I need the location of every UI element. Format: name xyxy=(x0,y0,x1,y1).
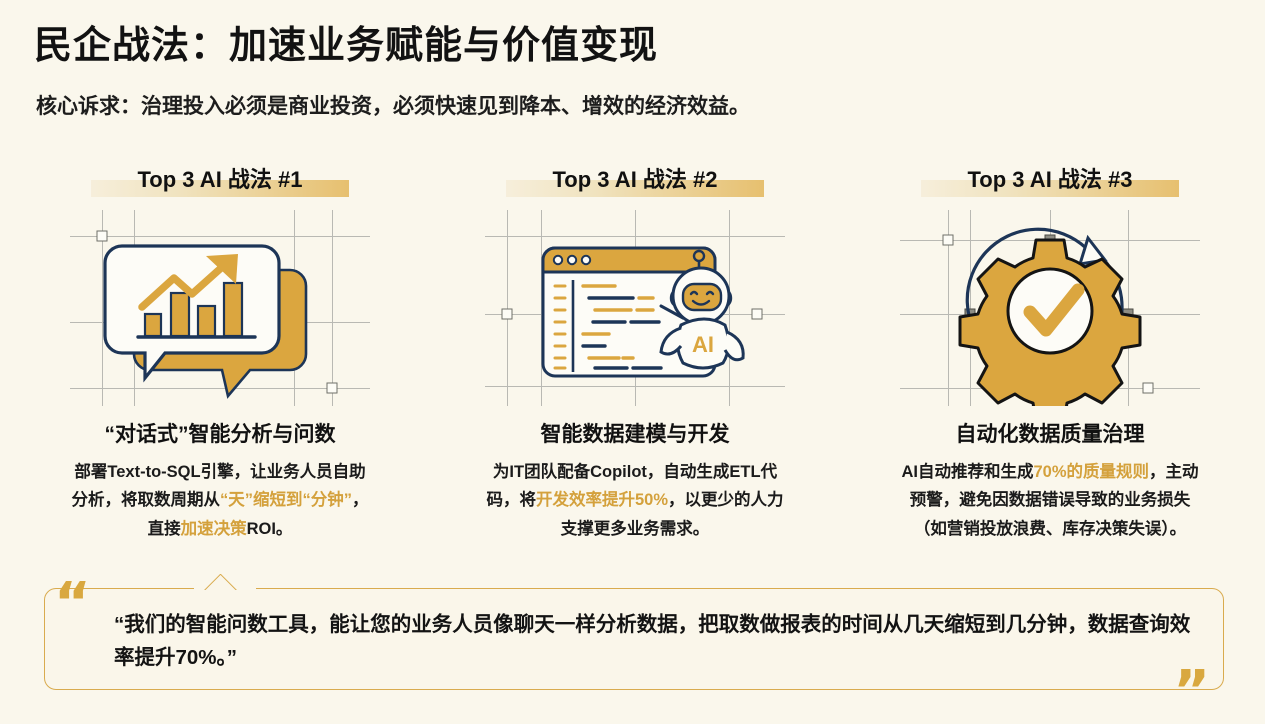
gear-check-cycle-icon xyxy=(900,210,1200,406)
highlighted-phrase: 开发效率提升50% xyxy=(536,491,668,509)
card-body-1: 部署Text-to-SQL引擎，让业务人员自助分析，将取数周期从“天”缩短到“分… xyxy=(68,458,372,543)
quote-open-icon: “ xyxy=(54,576,91,632)
badge-label: Top 3 AI 战法 #3 xyxy=(967,167,1132,192)
card-body-3: AI自动推荐和生成70%的质量规则，主动预警，避免因数据错误导致的业务损失（如营… xyxy=(898,458,1202,543)
highlighted-phrase: 加速决策 xyxy=(181,520,247,538)
page-title: 民企战法：加速业务赋能与价值变现 xyxy=(34,14,658,69)
robot-ai-label: AI xyxy=(692,332,714,357)
card-badge-1: Top 3 AI 战法 #1 xyxy=(10,160,430,202)
strategy-card-2: Top 3 AI 战法 #2 xyxy=(425,160,845,543)
card-title-1: “对话式”智能分析与问数 xyxy=(10,418,430,448)
illustration-3 xyxy=(900,210,1200,406)
code-editor-robot-icon: AI xyxy=(485,210,785,406)
body-phrase: AI自动推荐和生成 xyxy=(901,463,1033,481)
card-badge-3: Top 3 AI 战法 #3 xyxy=(840,160,1260,202)
illustration-1 xyxy=(70,210,370,406)
page-subtitle: 核心诉求：治理投入必须是商业投资，必须快速见到降本、增效的经济效益。 xyxy=(36,90,750,120)
strategy-card-1: Top 3 AI 战法 #1 xyxy=(10,160,430,543)
card-body-2: 为IT团队配备Copilot，自动生成ETL代码，将开发效率提升50%，以更少的… xyxy=(483,458,787,543)
slide-root: 民企战法：加速业务赋能与价值变现 核心诉求：治理投入必须是商业投资，必须快速见到… xyxy=(0,0,1265,702)
speech-bubble-bar-chart-icon xyxy=(70,210,370,406)
quote-text: “我们的智能问数工具，能让您的业务人员像聊天一样分析数据，把取数做报表的时间从几… xyxy=(114,608,1194,674)
badge-label: Top 3 AI 战法 #1 xyxy=(137,167,302,192)
illustration-2: AI xyxy=(485,210,785,406)
strategy-card-3: Top 3 AI 战法 #3 xyxy=(840,160,1260,543)
highlighted-phrase: “天”缩短到“分钟” xyxy=(220,491,352,509)
quote-callout: “ ” “我们的智能问数工具，能让您的业务人员像聊天一样分析数据，把取数做报表的… xyxy=(44,588,1224,690)
card-title-2: 智能数据建模与开发 xyxy=(425,418,845,448)
quote-notch xyxy=(194,574,256,590)
card-title-3: 自动化数据质量治理 xyxy=(840,418,1260,448)
card-badge-2: Top 3 AI 战法 #2 xyxy=(425,160,845,202)
highlighted-phrase: 70%的质量规则 xyxy=(1033,463,1149,481)
strategy-columns: Top 3 AI 战法 #1 xyxy=(0,160,1265,570)
badge-label: Top 3 AI 战法 #2 xyxy=(552,167,717,192)
body-phrase: ROI。 xyxy=(247,520,293,538)
